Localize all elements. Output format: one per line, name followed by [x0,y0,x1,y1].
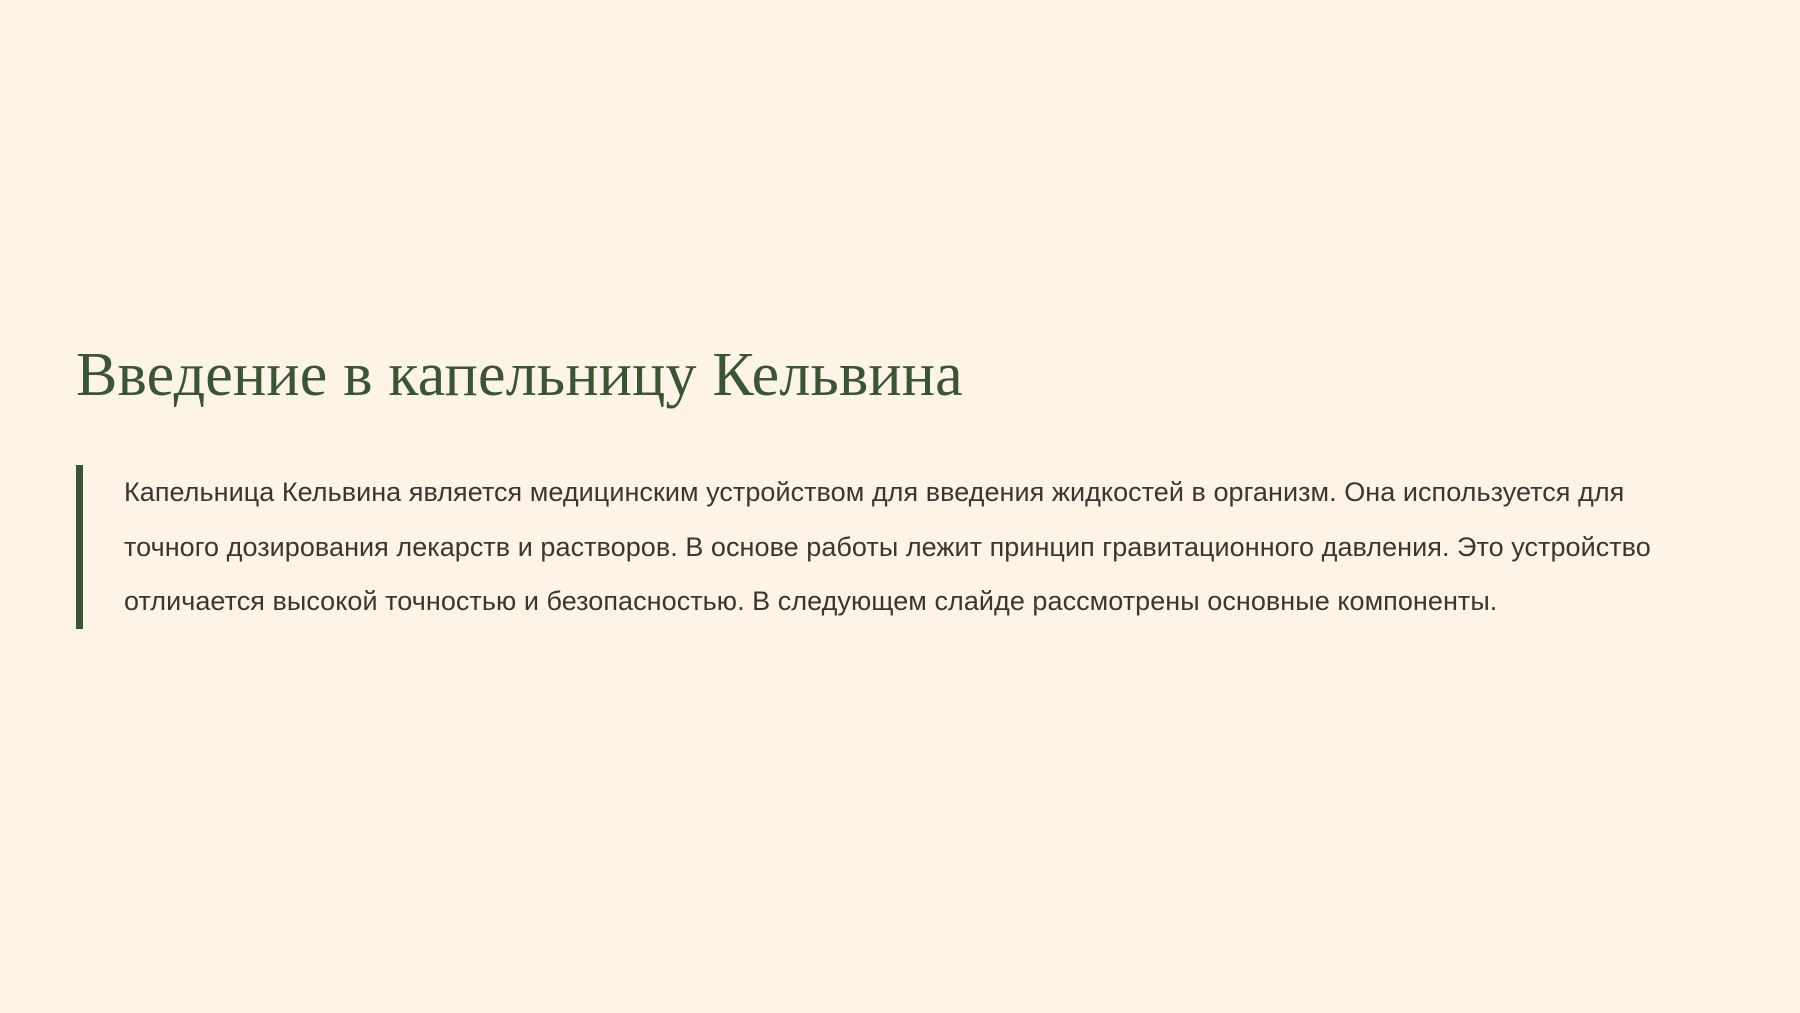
slide-canvas: Введение в капельницу Кельвина Капельниц… [0,0,1800,1013]
body-callout: Капельница Кельвина является медицинским… [76,465,1716,629]
accent-bar [76,465,83,629]
page-title: Введение в капельницу Кельвина [76,338,1696,412]
body-paragraph: Капельница Кельвина является медицинским… [83,465,1716,629]
